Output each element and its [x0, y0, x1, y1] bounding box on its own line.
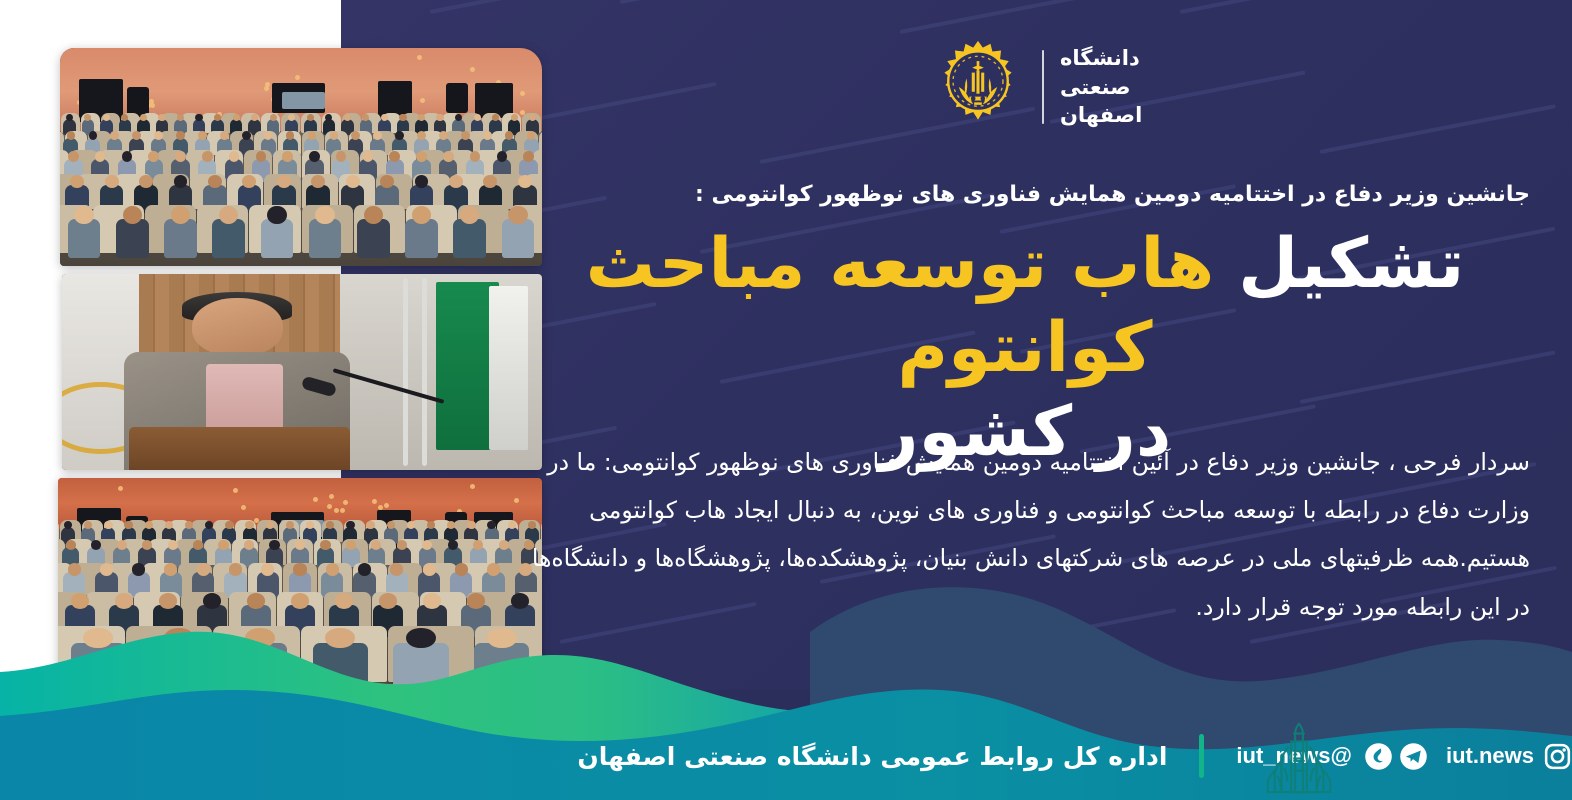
attendee-head	[511, 114, 518, 121]
attendee-body	[309, 219, 342, 257]
ceiling-light	[313, 497, 318, 502]
logo-divider	[1042, 50, 1044, 124]
attendee-head	[467, 521, 475, 529]
loudspeaker	[446, 83, 468, 113]
attendee-head	[363, 151, 374, 162]
attendee-head	[74, 206, 93, 224]
attendee-head	[346, 521, 354, 529]
attendee-head	[68, 151, 79, 162]
attendee-head	[286, 521, 294, 529]
attendee-head	[483, 131, 492, 140]
isfahan-building-icon	[1245, 718, 1353, 796]
ceiling-light	[378, 505, 383, 510]
attendee-head	[123, 206, 142, 224]
attendee-head	[145, 521, 153, 529]
attendee-head	[497, 151, 508, 162]
telegram-icon[interactable]	[1399, 742, 1428, 771]
attendee-head	[470, 151, 481, 162]
attendee-head	[309, 151, 320, 162]
attendee-head	[315, 206, 334, 224]
attendee-head	[225, 521, 233, 529]
attendee-head	[245, 521, 253, 529]
attendee-head	[346, 175, 360, 188]
monitor-screen	[282, 92, 325, 109]
university-name-line-3: اصفهان	[1060, 103, 1142, 128]
attendee-head	[256, 151, 267, 162]
attendee-head	[165, 521, 173, 529]
attendee-head	[461, 131, 470, 140]
attendee-body	[405, 219, 438, 257]
photo-speaker-at-podium	[62, 274, 542, 470]
attendee-head	[277, 175, 291, 188]
attendee-head	[229, 151, 240, 162]
attendee-head	[267, 206, 286, 224]
attendee-head	[103, 114, 110, 121]
attendee-head	[202, 151, 213, 162]
attendee-body	[453, 219, 486, 257]
attendee-head	[233, 114, 240, 121]
news-poster: دانشگاه صنعتی اصفهان	[0, 0, 1572, 800]
attendee-head	[122, 151, 133, 162]
university-name-line-1: دانشگاه	[1060, 46, 1140, 71]
page-title: تشکیل هاب توسعه مباحث کوانتوم در کشور	[520, 222, 1530, 475]
ceiling-light	[417, 55, 422, 60]
attendee-head	[407, 521, 415, 529]
instagram-handle-group[interactable]: iut.news	[1446, 742, 1572, 771]
attendee-head	[427, 521, 435, 529]
bale-icon[interactable]	[1364, 742, 1393, 771]
photo-auditorium-audience	[60, 48, 542, 266]
attendee-head	[270, 114, 277, 121]
attendee-head	[523, 151, 534, 162]
attendee-body	[357, 219, 390, 257]
ceiling-light	[520, 91, 525, 96]
kicker-line: جانشین وزیر دفاع در اختتامیه دومین همایش…	[550, 178, 1530, 211]
university-name-line-2: صنعتی	[1060, 75, 1131, 100]
attendee-head	[105, 175, 119, 188]
attendee-head	[364, 206, 383, 224]
seat	[58, 520, 59, 541]
attendee-head	[66, 114, 73, 121]
attendee-head	[518, 175, 532, 188]
attendee-head	[220, 131, 229, 140]
attendee-head	[436, 114, 443, 121]
attendee-body	[164, 219, 197, 257]
attendee-body	[212, 219, 245, 257]
attendee-head	[266, 521, 274, 529]
public-relations-office: اداره کل روابط عمومی دانشگاه صنعتی اصفها…	[577, 742, 1167, 771]
attendee-head	[242, 131, 251, 140]
ceiling-light	[327, 504, 332, 509]
footer-bar: iut.news @iut_news اداره کل روابط عمومی …	[0, 712, 1572, 800]
iut-gear-emblem	[930, 39, 1026, 135]
attendee-body	[116, 219, 149, 257]
headline-part-white-1: تشکیل	[1238, 224, 1464, 304]
attendee-head	[416, 151, 427, 162]
attendee-head	[282, 151, 293, 162]
attendee-head	[175, 151, 186, 162]
footer-divider	[1199, 734, 1204, 778]
ceiling-light	[329, 494, 334, 499]
attendee-head	[387, 521, 395, 529]
attendee-head	[185, 521, 193, 529]
attendee-head	[474, 114, 481, 121]
attendee-head	[307, 114, 314, 121]
ceiling-light	[233, 488, 238, 493]
attendee-head	[399, 114, 406, 121]
attendee-head	[148, 151, 159, 162]
attendee-head	[389, 151, 400, 162]
attendee-head	[195, 114, 202, 121]
attendee-head	[306, 521, 314, 529]
university-logo: دانشگاه صنعتی اصفهان	[930, 32, 1190, 142]
instagram-handle: iut.news	[1446, 743, 1534, 769]
attendee-body	[261, 219, 294, 257]
attendee-head	[344, 114, 351, 121]
instagram-icon[interactable]	[1543, 742, 1572, 771]
attendee-head	[508, 521, 516, 529]
attendee-head	[366, 521, 374, 529]
attendee-head	[443, 151, 454, 162]
attendee-head	[124, 521, 132, 529]
attendee-head	[487, 521, 495, 529]
attendee-body	[68, 219, 101, 257]
attendee-head	[64, 521, 72, 529]
headline-part-yellow: هاب توسعه مباحث کوانتوم	[586, 224, 1215, 388]
attendee-head	[158, 114, 165, 121]
ceiling-light	[295, 75, 300, 80]
university-name: دانشگاه صنعتی اصفهان	[1060, 46, 1142, 128]
attendee-head	[104, 521, 112, 529]
